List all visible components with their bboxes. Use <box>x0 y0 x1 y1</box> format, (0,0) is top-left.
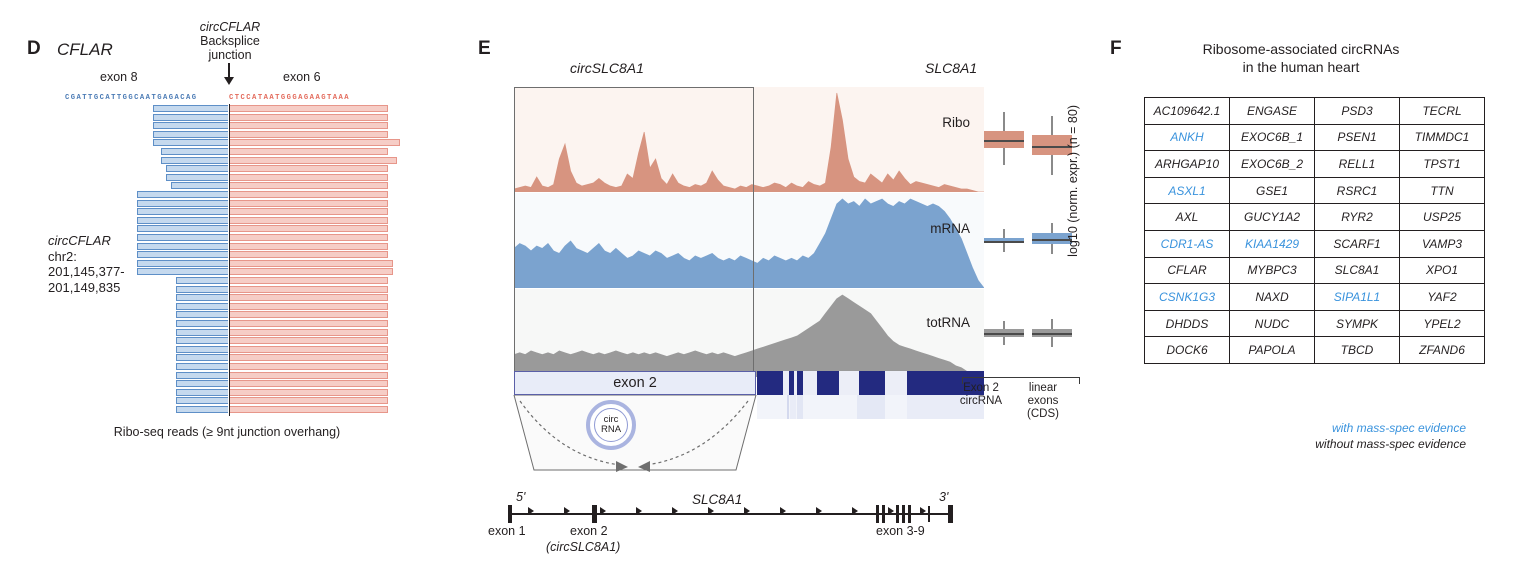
exon2-label: exon 2 <box>570 524 608 538</box>
backsplice-line1: circCFLAR <box>165 20 295 34</box>
ribo-seq-read <box>0 329 455 336</box>
slc8a1-title: SLC8A1 <box>925 60 977 76</box>
gene-cell: ZFAND6 <box>1400 337 1485 364</box>
boxplot <box>984 87 1024 377</box>
direction-arrow-icon <box>816 507 822 515</box>
exon-block <box>859 371 885 395</box>
track-label-mrna: mRNA <box>930 221 970 236</box>
ribo-seq-read <box>0 174 455 181</box>
gene-cell: PAPOLA <box>1230 337 1315 364</box>
boxplot-label-circrna: Exon 2 circRNA <box>950 382 1012 421</box>
gene-cell: TBCD <box>1315 337 1400 364</box>
ribo-seq-read <box>0 363 455 370</box>
ribo-seq-read <box>0 114 455 121</box>
gene-cell: SCARF1 <box>1315 230 1400 257</box>
five-prime-label: 5' <box>516 490 525 504</box>
gene-cell: ASXL1 <box>1145 177 1230 204</box>
circrna-icon: circ RNA <box>586 400 636 450</box>
boxplot-area <box>970 87 1075 377</box>
circrna-icon-line2: RNA <box>601 425 621 435</box>
coverage-track-ribo: Ribo <box>514 87 984 192</box>
exon-tick <box>896 505 899 523</box>
backsplice-junction-label: circCFLAR Backsplice junction <box>165 20 295 62</box>
circrna-gene-table: AC109642.1ENGASEPSD3TECRLANKHEXOC6B_1PSE… <box>1144 97 1485 364</box>
sequence-exon6: CTCCATAATGGGAGAAGTAAA <box>229 94 350 102</box>
ribo-seq-read <box>0 380 455 387</box>
ribo-seq-read <box>0 165 455 172</box>
ribo-seq-read <box>0 225 455 232</box>
heat-cell <box>787 395 789 419</box>
ribo-seq-read <box>0 320 455 327</box>
gene-cell: SIPA1L1 <box>1315 284 1400 311</box>
ribo-seq-read <box>0 294 455 301</box>
gene-cell: YPEL2 <box>1400 310 1485 337</box>
gene-cell: ANKH <box>1145 124 1230 151</box>
panel-f: F Ribosome-associated circRNAs in the hu… <box>1090 0 1528 578</box>
boxplot-label-linear: linear exons (CDS) <box>1012 382 1074 421</box>
ribo-seq-read <box>0 157 455 164</box>
bp-right-line3: (CDS) <box>1012 408 1074 421</box>
ribo-seq-read <box>0 346 455 353</box>
table-row: ASXL1GSE1RSRC1TTN <box>1145 177 1485 204</box>
direction-arrow-icon <box>920 507 926 515</box>
direction-arrow-icon <box>744 507 750 515</box>
gene-cell: PSD3 <box>1315 98 1400 125</box>
gene-model-name: SLC8A1 <box>692 492 742 507</box>
table-row: DOCK6PAPOLATBCDZFAND6 <box>1145 337 1485 364</box>
ribo-seq-read <box>0 200 455 207</box>
gene-axis-line <box>508 513 952 515</box>
bp-left-line1: Exon 2 <box>950 382 1012 395</box>
table-row: CSNK1G3NAXDSIPA1L1YAF2 <box>1145 284 1485 311</box>
panel-f-title-line1: Ribosome-associated circRNAs <box>1136 40 1466 58</box>
ribo-seq-read <box>0 182 455 189</box>
panel-d: D CFLAR circCFLAR Backsplice junction ex… <box>0 0 455 578</box>
exon-block <box>789 371 794 395</box>
gene-cell: DHDDS <box>1145 310 1230 337</box>
panel-e-letter: E <box>478 38 491 60</box>
exon-tick <box>902 505 905 523</box>
gene-cell: RELL1 <box>1315 151 1400 178</box>
exon-block <box>757 371 783 395</box>
ribo-seq-read <box>0 105 455 112</box>
direction-arrow-icon <box>708 507 714 515</box>
exon-6-label: exon 6 <box>283 70 321 84</box>
gene-cell: NUDC <box>1230 310 1315 337</box>
exon-tick <box>928 506 930 522</box>
circ-cflar-name: circCFLAR <box>48 233 125 249</box>
heat-cell <box>887 395 907 419</box>
gene-cell: EXOC6B_1 <box>1230 124 1315 151</box>
bp-left-line2: circRNA <box>950 395 1012 408</box>
gene-cell: PSEN1 <box>1315 124 1400 151</box>
ribo-seq-read <box>0 122 455 129</box>
gene-model: 5' 3' SLC8A1 exon 1 exon 2 (circSLC8A1) … <box>484 488 974 558</box>
panel-e: E circSLC8A1 SLC8A1 Ribo mRNA totRNA exo… <box>470 0 1090 578</box>
ribo-seq-read <box>0 397 455 404</box>
heat-cell <box>790 395 796 419</box>
junction-line <box>229 104 230 416</box>
bp-right-line2: exons <box>1012 395 1074 408</box>
sequence-exon8: CGATTGCATTGGCAATGAGACAG <box>65 94 198 102</box>
circ-cflar-start: 201,145,377- <box>48 264 125 280</box>
direction-arrow-icon <box>780 507 786 515</box>
gene-cell: KIAA1429 <box>1230 230 1315 257</box>
panel-f-title-line2: in the human heart <box>1136 58 1466 76</box>
ribo-seq-read <box>0 406 455 413</box>
heat-cell <box>805 395 857 419</box>
direction-arrow-icon <box>852 507 858 515</box>
circ-slc8a1-title: circSLC8A1 <box>570 60 644 76</box>
exon2-bar: exon 2 <box>514 371 756 395</box>
heat-cell <box>857 395 885 419</box>
gene-cell: AC109642.1 <box>1145 98 1230 125</box>
panel-d-letter: D <box>27 38 41 60</box>
heat-cell <box>797 395 803 419</box>
gene-cell: NAXD <box>1230 284 1315 311</box>
ribo-seq-read <box>0 208 455 215</box>
backsplice-line3: junction <box>165 48 295 62</box>
gene-cell: GSE1 <box>1230 177 1315 204</box>
gene-cell: RYR2 <box>1315 204 1400 231</box>
ribo-seq-read <box>0 337 455 344</box>
gene-cell: EXOC6B_2 <box>1230 151 1315 178</box>
gene-cell: TECRL <box>1400 98 1485 125</box>
gene-cell: RSRC1 <box>1315 177 1400 204</box>
gene-cell: GUCY1A2 <box>1230 204 1315 231</box>
table-row: AXLGUCY1A2RYR2USP25 <box>1145 204 1485 231</box>
exon2-sub-label: (circSLC8A1) <box>546 540 620 554</box>
heat-cell <box>757 395 787 419</box>
table-row: DHDDSNUDCSYMPKYPEL2 <box>1145 310 1485 337</box>
ribo-seq-read <box>0 311 455 318</box>
backsplice-arrow-icon <box>228 63 230 79</box>
gene-cell: ARHGAP10 <box>1145 151 1230 178</box>
backsplice-line2: Backsplice <box>165 34 295 48</box>
exon-tick <box>882 505 885 523</box>
boxplot-group-labels: Exon 2 circRNA linear exons (CDS) <box>950 382 1090 421</box>
gene-cell: TIMMDC1 <box>1400 124 1485 151</box>
direction-arrow-icon <box>888 507 894 515</box>
ribo-seq-read <box>0 389 455 396</box>
gene-cell: VAMP3 <box>1400 230 1485 257</box>
gene-cell: ENGASE <box>1230 98 1315 125</box>
table-row: ARHGAP10EXOC6B_2RELL1TPST1 <box>1145 151 1485 178</box>
gene-cell: XPO1 <box>1400 257 1485 284</box>
gene-cell: DOCK6 <box>1145 337 1230 364</box>
direction-arrow-icon <box>600 507 606 515</box>
gene-cell: TPST1 <box>1400 151 1485 178</box>
gene-cell: MYBPC3 <box>1230 257 1315 284</box>
table-row: AC109642.1ENGASEPSD3TECRL <box>1145 98 1485 125</box>
exon-tick <box>508 505 512 523</box>
table-row: ANKHEXOC6B_1PSEN1TIMMDC1 <box>1145 124 1485 151</box>
exon-8-label: exon 8 <box>100 70 138 84</box>
gene-cell: TTN <box>1400 177 1485 204</box>
ribo-seq-read <box>0 191 455 198</box>
gene-cell: SYMPK <box>1315 310 1400 337</box>
exon39-label: exon 3-9 <box>876 524 925 538</box>
ribo-seq-read <box>0 131 455 138</box>
ribo-seq-read <box>0 303 455 310</box>
panel-d-gene-name: CFLAR <box>57 40 113 60</box>
three-prime-label: 3' <box>939 490 948 504</box>
boxplot-axis-title: log10 (norm. expr.) (n = 80) <box>1066 105 1086 257</box>
exon1-label: exon 1 <box>488 524 526 538</box>
exon-tick <box>876 505 879 523</box>
coverage-track-totrna: totRNA <box>514 289 984 377</box>
panel-f-legend: with mass-spec evidence without mass-spe… <box>1136 420 1466 452</box>
panel-f-letter: F <box>1110 38 1122 60</box>
circ-cflar-end: 201,149,835 <box>48 280 125 296</box>
ribo-seq-read <box>0 217 455 224</box>
direction-arrow-icon <box>672 507 678 515</box>
exon-tick <box>948 505 953 523</box>
gene-cell: SLC8A1 <box>1315 257 1400 284</box>
ribo-seq-read <box>0 354 455 361</box>
ribo-seq-read <box>0 372 455 379</box>
panel-f-title: Ribosome-associated circRNAs in the huma… <box>1136 40 1466 76</box>
ribo-seq-read <box>0 148 455 155</box>
gene-cell: YAF2 <box>1400 284 1485 311</box>
bp-right-line1: linear <box>1012 382 1074 395</box>
circ-cflar-chrom: chr2: <box>48 249 125 265</box>
direction-arrow-icon <box>636 507 642 515</box>
gene-cell: CSNK1G3 <box>1145 284 1230 311</box>
gene-cell: CDR1-AS <box>1145 230 1230 257</box>
exon-block <box>817 371 839 395</box>
track-label-totrna: totRNA <box>926 315 970 330</box>
table-row: CDR1-ASKIAA1429SCARF1VAMP3 <box>1145 230 1485 257</box>
panel-d-caption: Ribo-seq reads (≥ 9nt junction overhang) <box>27 425 427 439</box>
exon-tick <box>592 505 597 523</box>
direction-arrow-icon <box>528 507 534 515</box>
legend-without-massspec: without mass-spec evidence <box>1136 436 1466 452</box>
direction-arrow-icon <box>564 507 570 515</box>
table-row: CFLARMYBPC3SLC8A1XPO1 <box>1145 257 1485 284</box>
track-label-ribo: Ribo <box>942 115 970 130</box>
exon-tick <box>908 505 911 523</box>
legend-with-massspec: with mass-spec evidence <box>1136 420 1466 436</box>
circ-cflar-coordinates: circCFLAR chr2: 201,145,377- 201,149,835 <box>48 233 125 295</box>
ribo-seq-read <box>0 139 455 146</box>
gene-cell: USP25 <box>1400 204 1485 231</box>
gene-cell: AXL <box>1145 204 1230 231</box>
coverage-track-mrna: mRNA <box>514 193 984 288</box>
exon-block <box>797 371 803 395</box>
gene-cell: CFLAR <box>1145 257 1230 284</box>
